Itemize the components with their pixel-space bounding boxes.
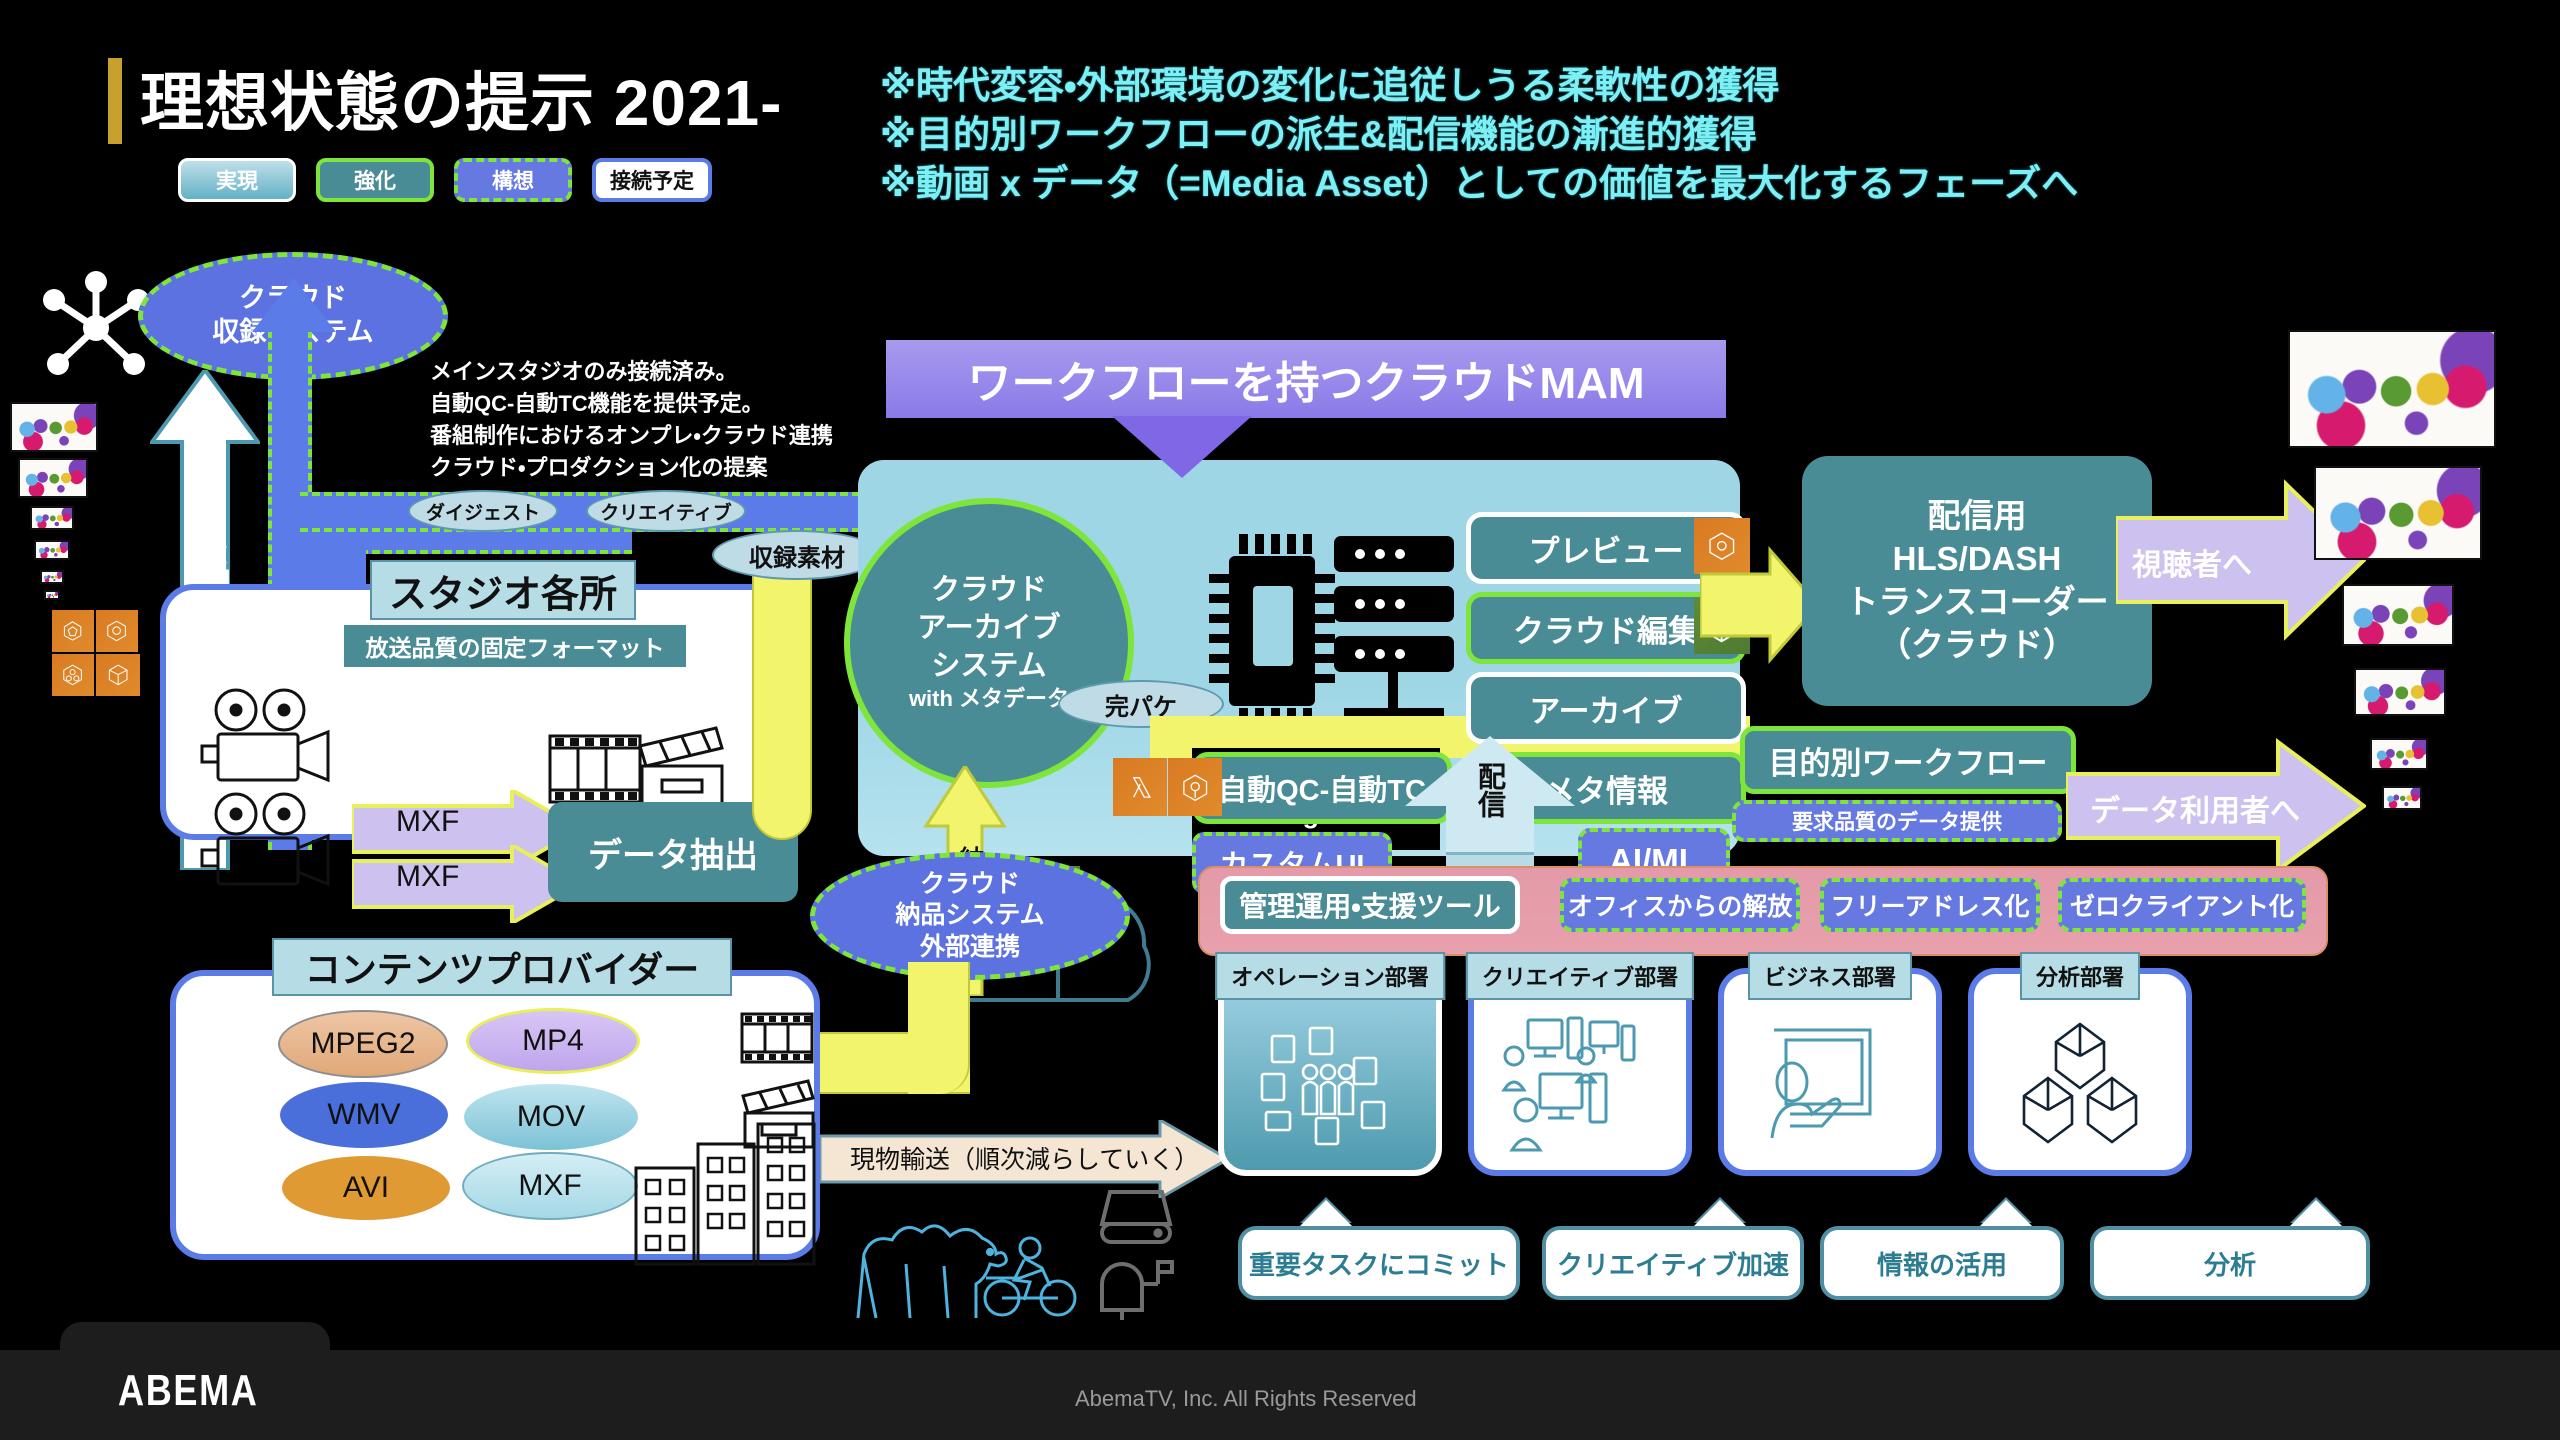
mxf-label-2: MXF bbox=[396, 860, 459, 894]
outcome-tail-1 bbox=[1300, 1200, 1352, 1226]
viewer-screen-2 bbox=[18, 458, 88, 498]
format-avi: AVI bbox=[282, 1156, 450, 1220]
management-tools-title: 管理運用・支援ツール bbox=[1220, 876, 1520, 934]
purpose-workflow-box[interactable]: 目的別ワークフロー bbox=[1740, 726, 2076, 794]
management-tools-title-label: 管理運用・支援ツール bbox=[1239, 885, 1501, 925]
cloud-recording-arrow-up bbox=[244, 276, 344, 346]
transcoder-line1: 配信用 bbox=[1928, 495, 2027, 538]
studio-panel-title: スタジオ各所 bbox=[370, 560, 636, 620]
format-mov: MOV bbox=[464, 1084, 638, 1150]
studio-annotation: メインスタジオのみ接続済み。 自動QC-自動TC機能を提供予定。 番組制作におけ… bbox=[430, 356, 900, 484]
cpu-chip-icon bbox=[1197, 528, 1347, 728]
workstations-icon bbox=[1500, 1012, 1660, 1162]
aws-service-icon-2 bbox=[96, 610, 138, 652]
buildings-icon bbox=[630, 1118, 820, 1266]
dept-title-operations: オペレーション部署 bbox=[1215, 952, 1445, 1000]
digest-creative-band bbox=[300, 492, 860, 532]
cloud-mam-title-notch bbox=[1112, 416, 1252, 478]
output-thumb-4 bbox=[2354, 668, 2446, 716]
outcome-creative[interactable]: クリエイティブ加速 bbox=[1542, 1226, 1804, 1300]
mgmt-chip-zero-client-label: ゼロクライアント化 bbox=[2070, 887, 2294, 923]
dept-title-business: ビジネス部署 bbox=[1748, 952, 1912, 1000]
delivery-vertical-label: 配信 bbox=[1470, 762, 1510, 818]
header-note-2: ※目的別ワークフローの派生&配信機能の漸進的獲得 bbox=[880, 111, 2078, 160]
outcome-commit-wrap: 重要タスクにコミット bbox=[1238, 1226, 1520, 1300]
format-wmv: WMV bbox=[280, 1082, 448, 1148]
mgmt-chip-free-address-label: フリーアドレス化 bbox=[1830, 887, 2029, 923]
provider-film-icon bbox=[740, 1008, 816, 1070]
outcome-tail-3 bbox=[1980, 1200, 2032, 1226]
viewer-screen-1 bbox=[10, 402, 98, 452]
slide-canvas: 理想状態の提示 2021- 実現 強化 構想 接続予定 ※時代変容・外部環境の変… bbox=[0, 0, 2560, 1440]
outcome-analysis-wrap: 分析 bbox=[2090, 1226, 2370, 1300]
mam-card-archive[interactable]: アーカイブ bbox=[1466, 672, 1746, 744]
cloud-archive-system[interactable]: クラウド アーカイブ システム with メタデータ bbox=[844, 498, 1134, 788]
content-provider-title: コンテンツプロバイダー bbox=[272, 938, 732, 996]
hard-drive-icon bbox=[1096, 1186, 1176, 1248]
mam-card-archive-label: アーカイブ bbox=[1529, 686, 1682, 731]
scooter-icon bbox=[980, 1234, 1080, 1324]
pill-recorded-material: 収録素材 bbox=[712, 530, 882, 580]
aws-service-icon-1 bbox=[52, 610, 94, 652]
title-accent-bar bbox=[108, 58, 122, 144]
legend: 実現 強化 構想 接続予定 bbox=[178, 158, 712, 202]
clapperboard-icon bbox=[636, 722, 726, 812]
aws-service-icon-3 bbox=[52, 654, 94, 696]
legend-chip-enhanced[interactable]: 強化 bbox=[316, 158, 434, 202]
output-thumb-6 bbox=[2382, 786, 2422, 810]
viewer-screen-3 bbox=[30, 506, 74, 530]
cloud-mam-title: ワークフローを持つクラウドMAM bbox=[886, 340, 1726, 418]
mgmt-chip-free-address[interactable]: フリーアドレス化 bbox=[1820, 878, 2040, 932]
archive-line4: with メタデータ bbox=[909, 685, 1069, 714]
output-thumb-5 bbox=[2370, 738, 2428, 770]
mam-card-cloud-edit-label: クラウド編集 bbox=[1513, 606, 1699, 651]
mailbox-icon bbox=[1096, 1254, 1176, 1324]
output-thumb-1 bbox=[2288, 330, 2496, 448]
mam-card-preview-label: プレビュー bbox=[1529, 526, 1684, 571]
header-note-3: ※動画 x データ（=Media Asset）としての価値を最大化するフェーズへ bbox=[880, 160, 2078, 209]
mgmt-chip-office-freedom-label: オフィスからの解放 bbox=[1568, 887, 1793, 923]
annotation-line-1: メインスタジオのみ接続済み。 bbox=[430, 356, 900, 388]
mxf-label-1: MXF bbox=[396, 805, 459, 839]
outcome-info-wrap: 情報の活用 bbox=[1820, 1226, 2064, 1300]
outcome-tail-2 bbox=[1694, 1200, 1746, 1226]
cloud-delivery-system[interactable]: クラウド 納品システム 外部連携 bbox=[810, 852, 1130, 980]
mam-card-autoqc-label: 自動QC-自動TC bbox=[1218, 767, 1426, 809]
mgmt-chip-zero-client[interactable]: ゼロクライアント化 bbox=[2058, 878, 2306, 932]
tablet-hand-icon bbox=[1758, 1022, 1908, 1152]
mediaconvert-icon bbox=[1168, 758, 1222, 816]
cloud-delivery-line3: 外部連携 bbox=[920, 932, 1020, 963]
to-data-users-label: データ利用者へ bbox=[2090, 786, 2300, 830]
copyright-text: AbemaTV, Inc. All Rights Reserved bbox=[1075, 1386, 1417, 1412]
cloud-recording-flow-label: クラウド収録 bbox=[186, 400, 230, 580]
film-strip-icon bbox=[548, 728, 644, 812]
pill-creative: クリエイティブ bbox=[586, 490, 746, 532]
network-star-icon bbox=[36, 268, 156, 388]
legend-chip-realized[interactable]: 実現 bbox=[178, 158, 296, 202]
outcome-creative-wrap: クリエイティブ加速 bbox=[1542, 1226, 1804, 1300]
annotation-line-4: クラウド・プロダクション化の提案 bbox=[430, 452, 900, 484]
transcoder-line4: （クラウド） bbox=[1878, 624, 2076, 667]
format-mpeg2: MPEG2 bbox=[278, 1010, 448, 1078]
aws-service-icon-4 bbox=[96, 654, 140, 696]
mgmt-chip-office-freedom[interactable]: オフィスからの解放 bbox=[1560, 878, 1800, 932]
quality-data-box[interactable]: 要求品質のデータ提供 bbox=[1732, 800, 2062, 842]
viewer-screen-4 bbox=[34, 540, 70, 560]
provider-upload-band-v bbox=[908, 962, 970, 1094]
annotation-line-3: 番組制作におけるオンプレ・クラウド連携 bbox=[430, 420, 900, 452]
lambda-icon bbox=[1113, 758, 1167, 816]
output-thumb-3 bbox=[2342, 584, 2454, 646]
server-rack-icon bbox=[1330, 528, 1470, 728]
recorded-material-flow bbox=[752, 540, 812, 840]
format-mxf: MXF bbox=[462, 1152, 638, 1220]
camera-icon-1 bbox=[196, 686, 348, 786]
purpose-workflow-label: 目的別ワークフロー bbox=[1769, 738, 2048, 783]
outcome-analysis[interactable]: 分析 bbox=[2090, 1226, 2370, 1300]
data-extraction-label: データ抽出 bbox=[588, 828, 758, 877]
archive-line1: クラウド bbox=[931, 572, 1047, 610]
cloud-delivery-line1: クラウド bbox=[920, 869, 1020, 900]
cubes-icon bbox=[2018, 1020, 2148, 1150]
dept-title-creative: クリエイティブ部署 bbox=[1466, 952, 1694, 1000]
archive-line3: システム bbox=[931, 648, 1046, 686]
viewer-screen-6 bbox=[44, 590, 60, 600]
physical-transport-label: 現物輸送（順次減らしていく） bbox=[850, 1140, 1199, 1176]
people-network-icon bbox=[1258, 1018, 1408, 1158]
outcome-commit[interactable]: 重要タスクにコミット bbox=[1238, 1226, 1520, 1300]
output-thumb-2 bbox=[2314, 466, 2482, 560]
format-mp4: MP4 bbox=[466, 1008, 640, 1074]
legend-chip-planned[interactable]: 接続予定 bbox=[592, 158, 712, 202]
archive-line2: アーカイブ bbox=[917, 610, 1060, 648]
outcome-info[interactable]: 情報の活用 bbox=[1820, 1226, 2064, 1300]
outcome-tail-4 bbox=[2290, 1200, 2342, 1226]
camera-icon-2 bbox=[196, 790, 348, 890]
hls-dash-transcoder[interactable]: 配信用 HLS/DASH トランスコーダー （クラウド） bbox=[1802, 456, 2152, 706]
viewer-screen-5 bbox=[40, 570, 64, 584]
transcoder-line3: トランスコーダー bbox=[1845, 581, 2108, 624]
abema-logo: ABEMA bbox=[118, 1366, 258, 1416]
pill-digest: ダイジェスト bbox=[408, 490, 558, 532]
header-notes: ※時代変容・外部環境の変化に追従しうる柔軟性の獲得 ※目的別ワークフローの派生&… bbox=[880, 62, 2078, 208]
page-title: 理想状態の提示 2021- bbox=[140, 52, 782, 144]
quality-data-label: 要求品質のデータ提供 bbox=[1792, 806, 2002, 836]
studio-format-label: 放送品質の固定フォーマット bbox=[344, 625, 686, 667]
legend-chip-concept[interactable]: 構想 bbox=[454, 158, 572, 202]
header-note-1: ※時代変容・外部環境の変化に追従しうる柔軟性の獲得 bbox=[880, 62, 2078, 111]
dept-title-analytics: 分析部署 bbox=[2020, 952, 2140, 1000]
cloud-delivery-line2: 納品システム bbox=[895, 900, 1044, 931]
to-viewers-label: 視聴者へ bbox=[2132, 540, 2252, 584]
transcoder-line2: HLS/DASH bbox=[1893, 538, 2062, 581]
annotation-line-2: 自動QC-自動TC機能を提供予定。 bbox=[430, 388, 900, 420]
